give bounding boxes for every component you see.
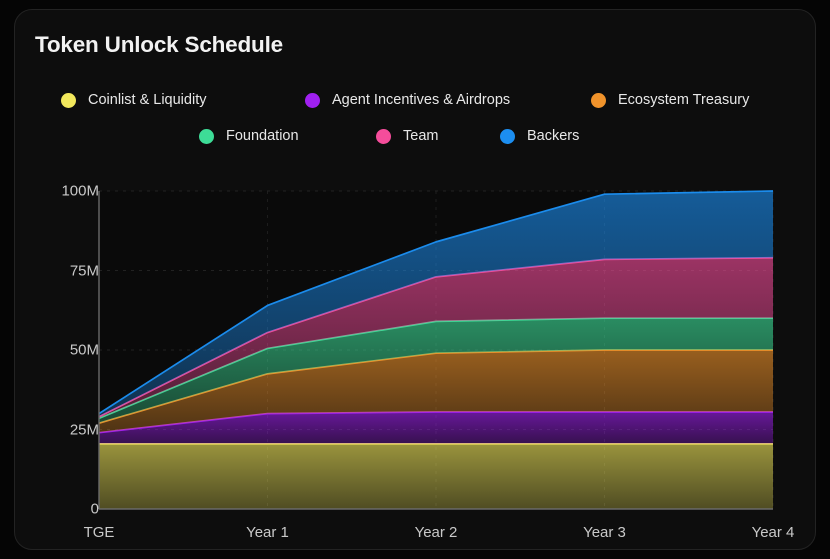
x-axis-tick-label: Year 2 [415, 524, 458, 541]
x-axis-tick-label: TGE [84, 524, 115, 541]
x-axis-tick-labels: TGEYear 1Year 2Year 3Year 4 [15, 10, 816, 550]
x-axis-tick-label: Year 4 [752, 524, 795, 541]
x-axis-tick-label: Year 3 [583, 524, 626, 541]
chart-plot-area: 025M50M75M100M TGEYear 1Year 2Year 3Year… [15, 10, 816, 550]
x-axis-tick-label: Year 1 [246, 524, 289, 541]
chart-card: Token Unlock Schedule Coinlist & Liquidi… [14, 9, 816, 550]
